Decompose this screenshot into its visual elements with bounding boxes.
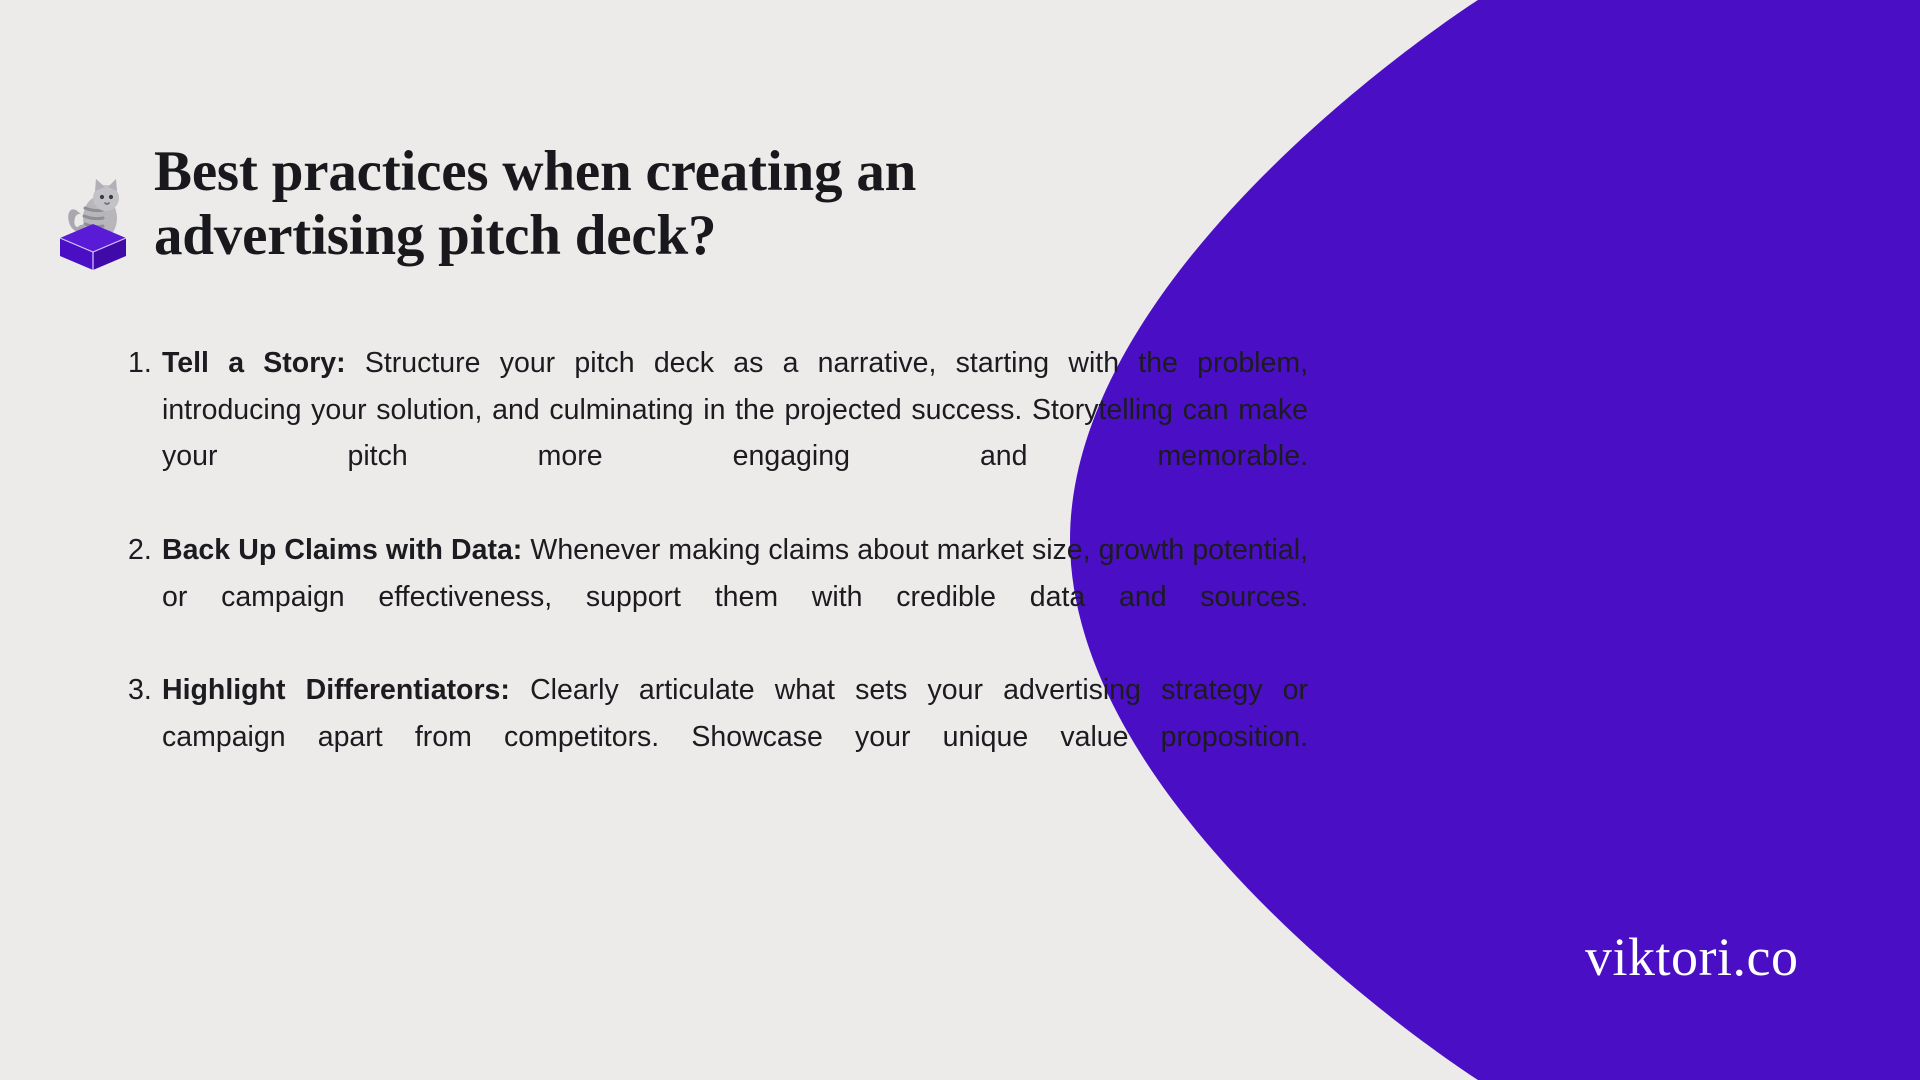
heading-row: Best practices when creating an advertis… (56, 140, 1206, 270)
list-item-marker: 3. (128, 667, 162, 714)
list-item-marker: 2. (128, 527, 162, 574)
list-item: 2. Back Up Claims with Data: Whenever ma… (128, 527, 1308, 667)
brand-wordmark: viktori.co (1585, 930, 1798, 984)
best-practices-list: 1. Tell a Story: Structure your pitch de… (128, 340, 1308, 807)
list-item-body: Tell a Story: Structure your pitch deck … (162, 340, 1308, 527)
list-item-body: Back Up Claims with Data: Whenever makin… (162, 527, 1308, 667)
list-item-marker: 1. (128, 340, 162, 387)
list-item-lead: Back Up Claims with Data: (162, 534, 522, 566)
page-title-line-1: Best practices when creating an (154, 140, 916, 204)
list-item-lead: Tell a Story: (162, 347, 346, 379)
list-item: 1. Tell a Story: Structure your pitch de… (128, 340, 1308, 527)
cat-on-purple-cube-icon (56, 158, 130, 270)
list-item: 3. Highlight Differentiators: Clearly ar… (128, 667, 1308, 807)
list-item-lead: Highlight Differentiators: (162, 674, 510, 706)
list-item-body: Highlight Differentiators: Clearly artic… (162, 667, 1308, 807)
page-title: Best practices when creating an advertis… (130, 140, 916, 268)
page-title-line-2: advertising pitch deck? (154, 204, 916, 268)
slide-canvas: viktori.co (0, 0, 1920, 1080)
